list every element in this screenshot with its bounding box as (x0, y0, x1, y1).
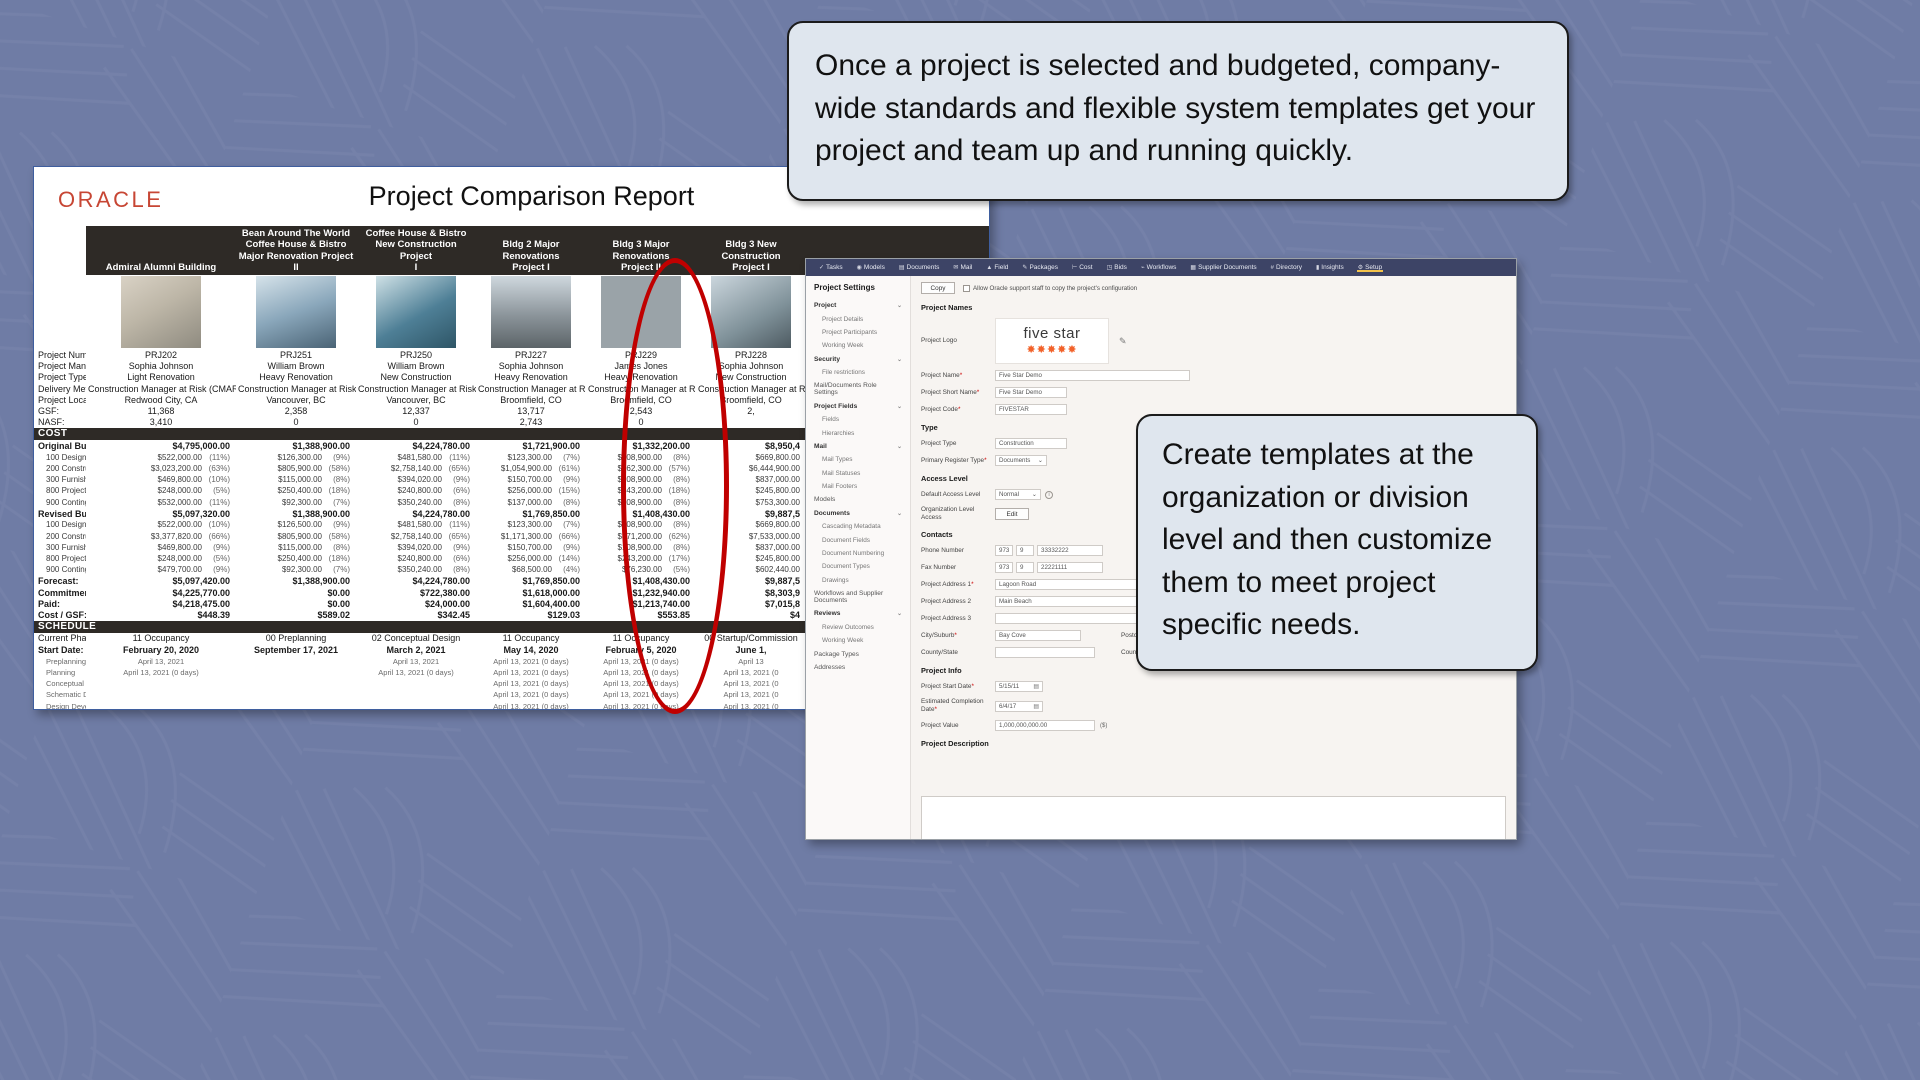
nav-item-setup[interactable]: ⚙Setup (1351, 264, 1389, 271)
cell-percent: (11%) (208, 453, 230, 462)
table-cell: $394,020.00(9%) (356, 475, 476, 484)
table-cell: $240,800.00(6%) (356, 554, 476, 563)
table-cell: $4,224,780.00 (356, 509, 476, 519)
county-state-input[interactable] (995, 647, 1095, 658)
sidebar-item-working-week[interactable]: Working Week (814, 634, 910, 647)
sidebar-item-review-outcomes[interactable]: Review Outcomes (814, 621, 910, 634)
table-cell: April 13, 2021 (0 days) (476, 657, 586, 666)
insights-icon: ▮ (1316, 264, 1319, 271)
row-label: Start Date: (34, 645, 86, 655)
table-cell: 00 Preplanning (236, 633, 356, 643)
project-short-name-row: Project Short Name* Five Star Demo (921, 387, 1506, 398)
phone-number-label: Phone Number (921, 547, 995, 555)
cell-percent: (9%) (448, 475, 470, 484)
table-cell: $1,054,900.00(61%) (476, 464, 586, 473)
cell-value: $250,400.00 (278, 554, 323, 563)
column-header-6: Bldg 3 New ConstructionProject I (696, 239, 806, 275)
cell-percent: (9%) (448, 543, 470, 552)
checkbox-box[interactable] (963, 285, 970, 292)
cell-value: $108,900.00 (618, 543, 663, 552)
table-cell: Sophia Johnson (86, 361, 236, 371)
table-cell: $5,097,420.00 (86, 576, 236, 586)
cell-percent: (17%) (668, 554, 690, 563)
sidebar-item-document-types[interactable]: Document Types (814, 560, 910, 573)
cell-percent: (9%) (558, 475, 580, 484)
project-description-textarea[interactable] (921, 796, 1506, 839)
sidebar-item-documents[interactable]: Documents⌄ (814, 507, 910, 520)
sidebar-item-fields[interactable]: Fields (814, 413, 910, 426)
cell-percent: (8%) (328, 543, 350, 552)
cell-percent: (65%) (448, 532, 470, 541)
nav-item-tasks[interactable]: ✓Tasks (812, 264, 850, 271)
table-cell: Construction Manager at Risk (CMAR) (696, 384, 806, 394)
sidebar-item-mail-statuses[interactable]: Mail Statuses (814, 467, 910, 480)
cell-percent: (8%) (448, 565, 470, 574)
table-cell: April 13, 2021 (0 (696, 702, 806, 710)
table-cell: $7,015,8 (696, 599, 806, 609)
row-label: 800 Project Expenses (34, 486, 86, 495)
row-label: 300 Furnishings (34, 543, 86, 552)
copy-config-checkbox[interactable]: Allow Oracle support staff to copy the p… (963, 285, 1137, 292)
project-name-input[interactable]: Five Star Demo (995, 370, 1190, 381)
table-cell: $342.45 (356, 610, 476, 620)
fax-number-label: Fax Number (921, 564, 995, 572)
cell-value: $256,000.00 (508, 486, 553, 495)
organization-level-access-label: Organization Level Access (921, 506, 995, 522)
table-cell: $0.00 (236, 599, 356, 609)
table-cell: $240,800.00(6%) (356, 486, 476, 495)
cell-percent: (8%) (668, 543, 690, 552)
table-cell: April 13, 2021 (86, 657, 236, 666)
sidebar-item-file-restrictions[interactable]: File restrictions (814, 366, 910, 379)
table-cell: $3,023,200.00(63%) (86, 464, 236, 473)
table-cell: $1,721,900.00 (476, 441, 586, 451)
cell-percent: (61%) (558, 464, 580, 473)
nav-item-label: Supplier Documents (1198, 264, 1257, 271)
column-header-line: Project I (698, 262, 804, 273)
nav-item-label: Documents (907, 264, 940, 271)
cell-percent: (9%) (558, 543, 580, 552)
callout-top-text: Once a project is selected and budgeted,… (815, 45, 1541, 173)
cell-percent: (58%) (328, 532, 350, 541)
packages-icon: ✎ (1022, 264, 1027, 271)
cell-percent: (5%) (208, 486, 230, 495)
chevron-down-icon[interactable]: ⌄ (897, 356, 902, 363)
table-cell: $137,000.00(8%) (476, 498, 586, 507)
table-cell: 2, (696, 406, 806, 416)
table-cell: $805,900.00(58%) (236, 532, 356, 541)
project-value-input[interactable]: 1,000,000,000.00 (995, 720, 1095, 731)
sidebar-item-drawings[interactable]: Drawings (814, 574, 910, 587)
nav-item-directory[interactable]: #Directory (1264, 264, 1309, 271)
nav-item-label: Insights (1321, 264, 1343, 271)
table-cell: $108,900.00(8%) (586, 475, 696, 484)
cell-percent: (66%) (208, 532, 230, 541)
cell-value: $762,300.00 (618, 464, 663, 473)
cell-percent: (11%) (448, 520, 470, 529)
sidebar-item-working-week[interactable]: Working Week (814, 339, 910, 352)
row-label: 200 Construction (34, 532, 86, 541)
cell-percent: (8%) (448, 498, 470, 507)
table-cell: $250,400.00(18%) (236, 486, 356, 495)
documents-icon: ▤ (899, 264, 905, 271)
city-input[interactable]: Bay Cove (995, 630, 1081, 641)
sidebar-item-mail-documents-role-settings[interactable]: Mail/Documents Role Settings (814, 379, 910, 399)
table-cell: September 17, 2021 (236, 645, 356, 655)
table-cell: April 13, 2021 (0 days) (586, 702, 696, 710)
cell-percent: (6%) (448, 486, 470, 495)
table-cell: April 13, 2021 (0 days) (476, 668, 586, 677)
table-cell: $8,950,4 (696, 441, 806, 451)
table-cell: PRJ202 (86, 350, 236, 360)
table-cell: 11 Occupancy (86, 633, 236, 643)
project-value-label: Project Value (921, 722, 995, 730)
cell-value: $1,171,300.00 (501, 532, 552, 541)
nav-item-packages[interactable]: ✎Packages (1015, 264, 1065, 271)
table-cell: PRJ227 (476, 350, 586, 360)
nav-item-insights[interactable]: ▮Insights (1309, 264, 1351, 271)
table-cell: April 13, 2021 (0 days) (476, 690, 586, 699)
sidebar-item-cascading-metadata[interactable]: Cascading Metadata (814, 520, 910, 533)
cell-percent: (15%) (558, 486, 580, 495)
table-cell: Construction Manager at Risk (CMAR) (86, 384, 236, 394)
row-label: NASF: (34, 417, 86, 427)
table-cell: Sophia Johnson (476, 361, 586, 371)
cell-value: $92,300.00 (282, 565, 322, 574)
row-label: GSF: (34, 406, 86, 416)
table-cell: 12,337 (356, 406, 476, 416)
row-label: 800 Project Expenses (34, 554, 86, 563)
table-cell: $837,000.00 (696, 475, 806, 484)
cell-value: $469,800.00 (158, 475, 203, 484)
row-label: Forecast: (34, 576, 86, 586)
cell-value: $250,400.00 (278, 486, 323, 495)
cell-value: $243,200.00 (618, 554, 663, 563)
organization-level-access-edit-button[interactable]: Edit (995, 508, 1029, 520)
cell-value: $256,000.00 (508, 554, 553, 563)
table-cell: Heavy Renovation (236, 372, 356, 382)
nav-item-label: Cost (1079, 264, 1092, 271)
section-project-names: Project Names (921, 303, 1506, 312)
cell-percent: (8%) (328, 475, 350, 484)
gear-icon: ⚙ (1358, 264, 1363, 271)
table-cell: $1,332,200.00 (586, 441, 696, 451)
copy-config-label: Allow Oracle support staff to copy the p… (973, 285, 1137, 292)
project-logo-row: Project Logo five star ✸✸✸✸✸ ✎ (921, 318, 1506, 364)
row-label: Commitments: (34, 588, 86, 598)
table-cell: $2,758,140.00(65%) (356, 464, 476, 473)
cell-value: $126,300.00 (278, 453, 323, 462)
table-cell: New Construction (356, 372, 476, 382)
cell-percent: (9%) (208, 543, 230, 552)
table-cell: Redwood City, CA (86, 395, 236, 405)
project-thumbnail-5 (586, 275, 696, 349)
cell-percent: (66%) (558, 532, 580, 541)
thumbnail-image (121, 276, 201, 348)
phone-number-input[interactable]: 33332222 (1037, 545, 1103, 556)
column-header-line: Bldg 2 Major Renovations (478, 239, 584, 261)
row-label: 200 Construction (34, 464, 86, 473)
nav-item-label: Mail (960, 264, 972, 271)
column-header-line: Bldg 3 New Construction (698, 239, 804, 261)
copy-button[interactable]: Copy (921, 282, 955, 294)
nav-item-label: Bids (1114, 264, 1127, 271)
project-short-name-label: Project Short Name* (921, 389, 995, 397)
table-cell: Broomfield, CO (696, 395, 806, 405)
column-header-4: Bldg 2 Major RenovationsProject I (476, 239, 586, 275)
sidebar-item-project-fields[interactable]: Project Fields⌄ (814, 400, 910, 413)
thumbnail-image (711, 276, 791, 348)
table-cell: 13,717 (476, 406, 586, 416)
primary-register-type-select[interactable]: Documents ⌄ (995, 455, 1047, 466)
phone-area-input[interactable]: 9 (1016, 545, 1034, 556)
info-icon[interactable]: i (1045, 491, 1053, 499)
table-cell: $4,218,475.00 (86, 599, 236, 609)
table-cell: $108,900.00(8%) (586, 453, 696, 462)
sidebar-item-project[interactable]: Project⌄ (814, 299, 910, 312)
cell-value: $481,580.00 (398, 520, 443, 529)
sidebar-item-security[interactable]: Security⌄ (814, 353, 910, 366)
logo-wordmark: five star (1023, 326, 1080, 341)
cell-percent: (11%) (208, 498, 230, 507)
sidebar-item-mail[interactable]: Mail⌄ (814, 440, 910, 453)
table-cell: April 13 (696, 657, 806, 666)
cell-percent: (5%) (668, 565, 690, 574)
column-header-line: Project I (478, 262, 584, 273)
row-label: 100 Design Services (34, 453, 86, 462)
row-label: Revised Budget: (34, 509, 86, 519)
address1-input[interactable]: Lagoon Road (995, 579, 1155, 590)
sidebar-item-label: Project Fields (814, 403, 857, 410)
table-cell: $115,000.00(8%) (236, 475, 356, 484)
cell-percent: (5%) (208, 554, 230, 563)
table-cell: $7,533,000.00 (696, 532, 806, 541)
address3-input[interactable] (995, 613, 1155, 624)
sidebar-item-label: Reviews (814, 610, 840, 617)
nav-item-cost[interactable]: ⊢Cost (1065, 264, 1100, 271)
row-label: Project Manager: (34, 361, 86, 371)
sidebar-item-project-details[interactable]: Project Details (814, 312, 910, 325)
county-state-label: County/State (921, 649, 995, 657)
sidebar-item-package-types[interactable]: Package Types (814, 647, 910, 660)
table-cell: Heavy Renovation (476, 372, 586, 382)
sidebar-item-label: Package Types (814, 651, 859, 658)
row-label: Project Location: (34, 395, 86, 405)
estimated-completion-date-input[interactable]: 6/4/17 ▤ (995, 701, 1043, 712)
nav-item-documents[interactable]: ▤Documents (892, 264, 947, 271)
sidebar-item-label: Mail (814, 443, 827, 450)
bids-icon: ◳ (1107, 264, 1113, 271)
cell-value: $1,054,900.00 (501, 464, 552, 473)
nav-item-label: Packages (1029, 264, 1058, 271)
table-cell: $1,388,900.00 (236, 441, 356, 451)
sidebar-item-addresses[interactable]: Addresses (814, 661, 910, 674)
cell-percent: (8%) (668, 498, 690, 507)
chevron-down-icon: ⌄ (1032, 491, 1037, 498)
chevron-down-icon[interactable]: ⌄ (897, 443, 902, 450)
cell-value: $108,900.00 (618, 498, 663, 507)
table-cell: $108,900.00(8%) (586, 543, 696, 552)
cell-percent: (8%) (668, 475, 690, 484)
sidebar-item-document-fields[interactable]: Document Fields (814, 533, 910, 546)
cell-value: $108,900.00 (618, 520, 663, 529)
table-cell: $4 (696, 610, 806, 620)
row-label: Delivery Method: (34, 384, 86, 394)
calendar-icon[interactable]: ▤ (1033, 683, 1039, 690)
table-cell: $243,200.00(18%) (586, 486, 696, 495)
cell-percent: (9%) (328, 520, 350, 529)
chevron-down-icon[interactable]: ⌄ (897, 403, 902, 410)
nav-item-supplier-documents[interactable]: ▦Supplier Documents (1183, 264, 1263, 271)
fax-area-input[interactable]: 9 (1016, 562, 1034, 573)
cell-value: $532,000.00 (158, 498, 203, 507)
table-cell: Construction Manager at Risk (CMAR) (476, 384, 586, 394)
table-cell: $4,225,770.00 (86, 588, 236, 598)
sidebar-item-hierarchies[interactable]: Hierarchies (814, 426, 910, 439)
column-header-line: I (358, 262, 474, 273)
table-cell: June 1, (696, 645, 806, 655)
table-cell: Heavy Renovation (586, 372, 696, 382)
table-cell: $92,300.00(7%) (236, 565, 356, 574)
cell-percent: (10%) (208, 520, 230, 529)
sidebar-item-label: Mail/Documents Role Settings (814, 382, 902, 396)
project-type-input[interactable]: Construction (995, 438, 1067, 449)
estimated-completion-date-label: Estimated Completion Date* (921, 698, 995, 714)
settings-sidebar[interactable]: Project Settings Project⌄Project Details… (806, 276, 911, 839)
table-cell: April 13, 2021 (356, 657, 476, 666)
calendar-icon[interactable]: ▤ (1033, 703, 1039, 710)
table-cell: $126,300.00(9%) (236, 453, 356, 462)
sidebar-item-document-numbering[interactable]: Document Numbering (814, 547, 910, 560)
cell-value: $123,300.00 (508, 453, 553, 462)
cell-percent: (8%) (668, 520, 690, 529)
column-header-line: Project II (588, 262, 694, 273)
default-access-level-select[interactable]: Normal ⌄ (995, 489, 1041, 500)
project-thumbnail-2 (236, 275, 356, 349)
sidebar-item-project-participants[interactable]: Project Participants (814, 326, 910, 339)
table-cell: $469,800.00(10%) (86, 475, 236, 484)
cell-percent: (65%) (448, 464, 470, 473)
mail-icon: ✉ (953, 264, 958, 271)
column-header-line: Coffee House & Bistro (238, 239, 354, 250)
nav-item-label: Field (994, 264, 1008, 271)
chevron-down-icon[interactable]: ⌄ (897, 510, 902, 517)
edit-pencil-icon[interactable]: ✎ (1119, 336, 1127, 347)
table-cell: $248,000.00(5%) (86, 486, 236, 495)
fax-number-input[interactable]: 22221111 (1037, 562, 1103, 573)
app-navigation-bar[interactable]: ✓Tasks◉Models▤Documents✉Mail▲Field✎Packa… (806, 259, 1516, 276)
table-cell: 11 Occupancy (476, 633, 586, 643)
project-thumbnail-1 (86, 275, 236, 349)
table-cell: $1,388,900.00 (236, 576, 356, 586)
table-cell: April 13, 2021 (0 (696, 690, 806, 699)
project-name-row: Project Name* Five Star Demo (921, 370, 1506, 381)
project-short-name-input[interactable]: Five Star Demo (995, 387, 1067, 398)
nav-item-mail[interactable]: ✉Mail (946, 264, 979, 271)
table-cell: Construction Manager at Risk (CMAR) (236, 384, 356, 394)
cell-value: $3,377,820.00 (151, 532, 202, 541)
cell-value: $350,240.00 (398, 498, 443, 507)
nav-item-workflows[interactable]: ⌁Workflows (1134, 264, 1183, 271)
table-cell: $245,800.00 (696, 486, 806, 495)
city-label: City/Suburb* (921, 632, 995, 640)
table-cell: $350,240.00(8%) (356, 565, 476, 574)
table-cell: $553.85 (586, 610, 696, 620)
cell-value: $108,900.00 (618, 453, 663, 462)
sidebar-item-reviews[interactable]: Reviews⌄ (814, 607, 910, 620)
cell-value: $469,800.00 (158, 543, 203, 552)
table-cell: New Construction (696, 372, 806, 382)
cell-value: $240,800.00 (398, 486, 443, 495)
table-cell: $250,400.00(18%) (236, 554, 356, 563)
nav-item-field[interactable]: ▲Field (979, 264, 1015, 271)
table-cell: $1,388,900.00 (236, 509, 356, 519)
table-cell: $1,171,300.00(66%) (476, 532, 586, 541)
table-cell: $5,097,320.00 (86, 509, 236, 519)
table-cell: $481,580.00(11%) (356, 453, 476, 462)
address2-input[interactable]: Main Beach (995, 596, 1155, 607)
sidebar-item-mail-footers[interactable]: Mail Footers (814, 480, 910, 493)
cell-percent: (62%) (668, 532, 690, 541)
table-cell: $1,769,850.00 (476, 576, 586, 586)
sidebar-item-label: Documents (814, 510, 850, 517)
sidebar-item-workflows-and-supplier-documents[interactable]: Workflows and Supplier Documents (814, 587, 910, 607)
row-label: Project Type: (34, 372, 86, 382)
chevron-down-icon[interactable]: ⌄ (897, 302, 902, 309)
project-code-input[interactable]: FIVESTAR (995, 404, 1067, 415)
sidebar-item-mail-types[interactable]: Mail Types (814, 453, 910, 466)
table-cell: 0 (236, 417, 356, 427)
workflows-icon: ⌁ (1141, 264, 1145, 271)
nav-item-models[interactable]: ◉Models (850, 264, 892, 271)
cell-value: $126,500.00 (278, 520, 323, 529)
table-cell: $1,618,000.00 (476, 588, 586, 598)
cell-percent: (9%) (208, 565, 230, 574)
cell-value: $243,200.00 (618, 486, 663, 495)
table-cell: $245,800.00 (696, 554, 806, 563)
table-cell: $150,700.00(9%) (476, 543, 586, 552)
table-cell: February 5, 2020 (586, 645, 696, 655)
table-cell: Sophia Johnson (696, 361, 806, 371)
thumbnail-image (491, 276, 571, 348)
phone-country-input[interactable]: 973 (995, 545, 1013, 556)
table-cell: $256,000.00(15%) (476, 486, 586, 495)
table-cell: $837,000.00 (696, 543, 806, 552)
table-cell: $350,240.00(8%) (356, 498, 476, 507)
table-cell: Vancouver, BC (356, 395, 476, 405)
table-cell: $4,795,000.00 (86, 441, 236, 451)
callout-top: Once a project is selected and budgeted,… (787, 21, 1569, 201)
thumbnail-image (256, 276, 336, 348)
project-start-date-input[interactable]: 5/15/11 ▤ (995, 681, 1043, 692)
sidebar-item-models[interactable]: Models (814, 493, 910, 506)
cell-percent: (8%) (668, 453, 690, 462)
cell-value: $394,020.00 (398, 475, 443, 484)
row-label: Preplanning (34, 657, 86, 666)
table-cell: 2,743 (476, 417, 586, 427)
table-cell: $126,500.00(9%) (236, 520, 356, 529)
table-cell: William Brown (236, 361, 356, 371)
fax-country-input[interactable]: 973 (995, 562, 1013, 573)
cell-percent: (9%) (328, 453, 350, 462)
cell-value: $150,700.00 (508, 475, 553, 484)
cell-value: $123,300.00 (508, 520, 553, 529)
chevron-down-icon: ⌄ (1038, 457, 1043, 464)
nav-item-bids[interactable]: ◳Bids (1100, 264, 1134, 271)
table-cell: April 13, 2021 (0 days) (356, 668, 476, 677)
sidebar-item-label: Security (814, 356, 840, 363)
chevron-down-icon[interactable]: ⌄ (897, 610, 902, 617)
